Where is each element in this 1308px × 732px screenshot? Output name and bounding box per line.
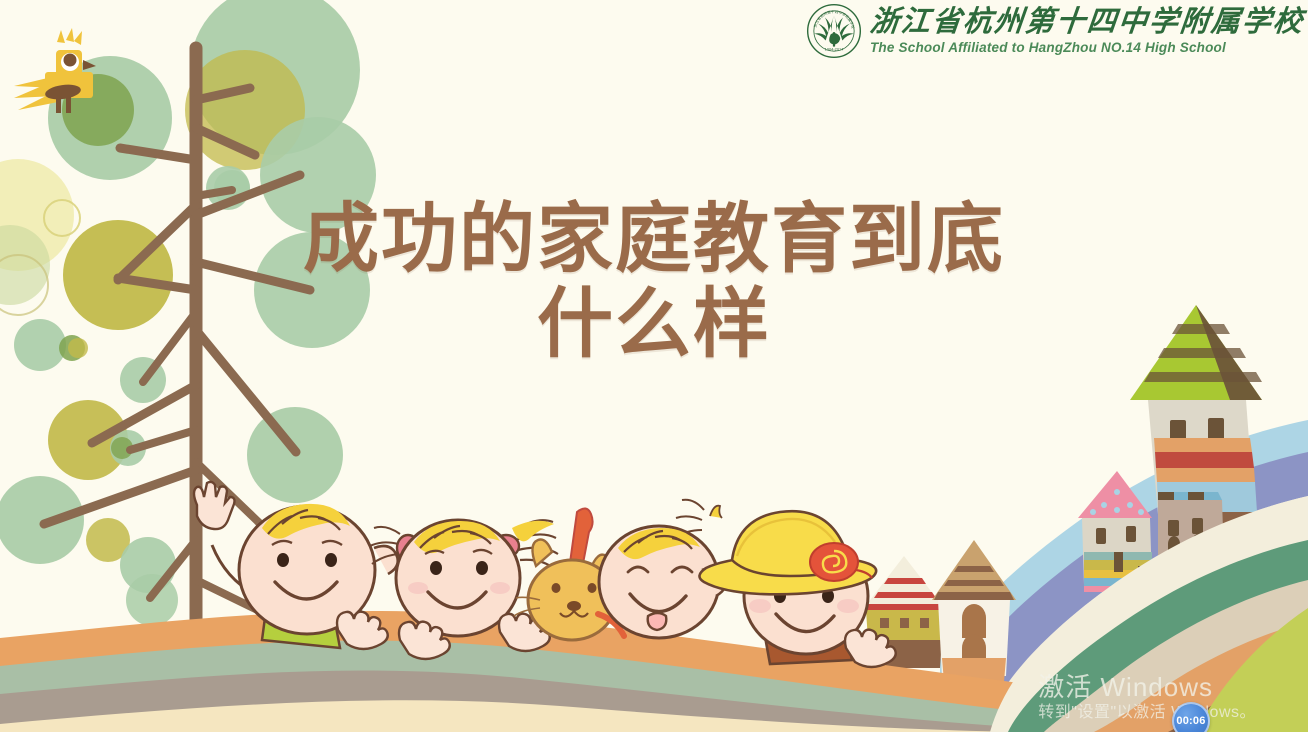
- house-brown-tower: [932, 540, 1016, 698]
- house-grey-block: [1158, 492, 1224, 560]
- child-tongue-out: [599, 500, 726, 638]
- title-line-2: 什么样: [264, 281, 1044, 366]
- stylized-tree-branches: [44, 48, 310, 732]
- child-yellow-hat: [699, 511, 895, 667]
- child-pigtails: [370, 520, 558, 659]
- rainbow-hills: [940, 420, 1308, 732]
- timer-badge[interactable]: 00:06: [1172, 702, 1210, 732]
- cat-mascot: [514, 508, 632, 640]
- house-green-striped-tower: [1130, 305, 1262, 564]
- yellow-bird-illustration: [14, 28, 96, 113]
- house-striped-red-roof: [864, 556, 944, 668]
- watermark-title: 激活 Windows: [1038, 673, 1256, 703]
- child-waving-green-shirt: [194, 482, 398, 649]
- watermark-subtitle: 转到"设置"以激活 Windows。: [1038, 702, 1256, 724]
- presentation-slide: 1904-2014 浙江省杭州第十四中学附属学校 浙江省杭州第十四中学附属学校 …: [0, 0, 1308, 732]
- rainbow-hills-foreground: [990, 496, 1308, 732]
- house-pink-dotted-roof: [1078, 470, 1152, 592]
- school-name-cn: 浙江省杭州第十四中学附属学校: [868, 8, 1305, 37]
- windows-activation-watermark: 激活 Windows 转到"设置"以激活 Windows。: [1038, 673, 1256, 724]
- emblem-years: 1904-2014: [825, 47, 845, 52]
- timer-label: 00:06: [1176, 715, 1205, 727]
- ground-wave-bands: [0, 611, 1308, 732]
- slide-title: 成功的家庭教育到底 什么样: [264, 196, 1044, 366]
- school-brand-header: 1904-2014 浙江省杭州第十四中学附属学校 浙江省杭州第十四中学附属学校 …: [806, 0, 1304, 62]
- school-emblem-icon: 1904-2014 浙江省杭州第十四中学附属学校: [806, 3, 862, 59]
- school-brand-text: 浙江省杭州第十四中学附属学校 The School Affiliated to …: [870, 8, 1304, 55]
- title-line-1: 成功的家庭教育到底: [264, 196, 1044, 281]
- school-name-en: The School Affiliated to HangZhou NO.14 …: [870, 41, 1226, 55]
